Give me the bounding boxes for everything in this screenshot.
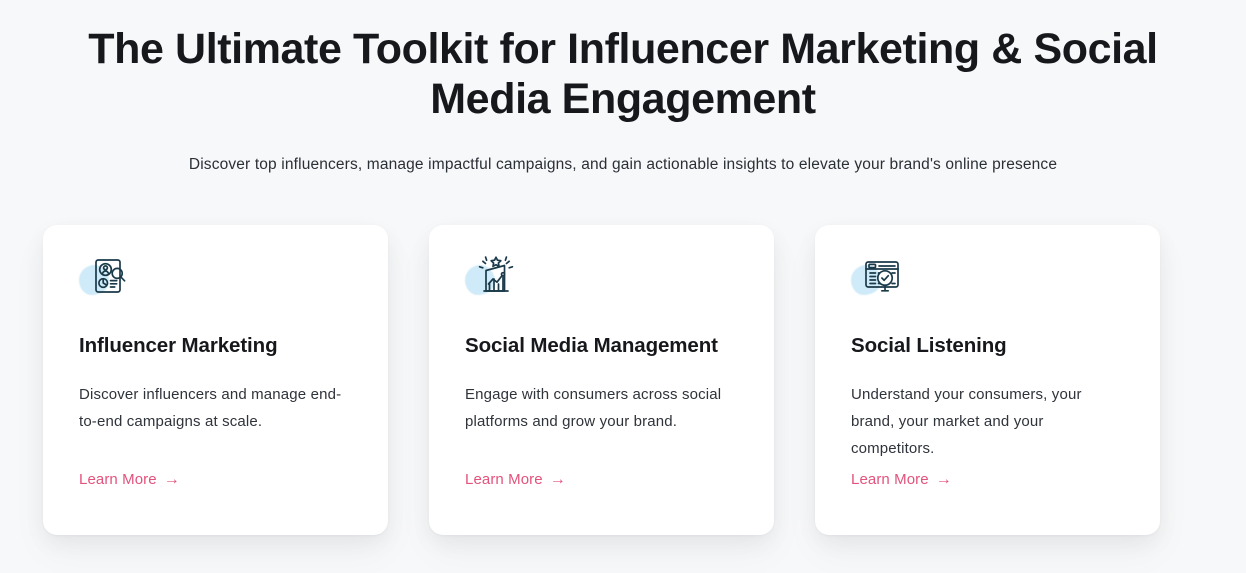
- browser-search-check-icon: [851, 253, 907, 305]
- page-title: The Ultimate Toolkit for Influencer Mark…: [0, 24, 1246, 124]
- card-title: Influencer Marketing: [79, 333, 354, 359]
- card-description: Engage with consumers across social plat…: [465, 381, 740, 435]
- arrow-right-icon: →: [936, 472, 952, 488]
- card-description: Understand your consumers, your brand, y…: [851, 381, 1126, 462]
- feature-card-list: Influencer Marketing Discover influencer…: [43, 225, 1203, 535]
- landing-page-section: The Ultimate Toolkit for Influencer Mark…: [0, 0, 1246, 573]
- profile-document-search-glyph: [87, 253, 133, 299]
- card-description: Discover influencers and manage end-to-e…: [79, 381, 354, 435]
- learn-more-label: Learn More: [79, 471, 157, 489]
- page-subtitle: Discover top influencers, manage impactf…: [0, 155, 1246, 175]
- feature-card-social-listening[interactable]: Social Listening Understand your consume…: [815, 225, 1160, 535]
- browser-search-check-glyph: [859, 253, 905, 299]
- bar-chart-star-glyph: [473, 253, 519, 299]
- card-title: Social Listening: [851, 333, 1126, 359]
- bar-chart-star-icon: [465, 253, 521, 305]
- arrow-right-icon: →: [550, 472, 566, 488]
- card-title: Social Media Management: [465, 333, 740, 359]
- profile-document-search-icon: [79, 253, 135, 305]
- feature-card-influencer-marketing[interactable]: Influencer Marketing Discover influencer…: [43, 225, 388, 535]
- learn-more-link[interactable]: Learn More →: [79, 471, 180, 489]
- learn-more-label: Learn More: [465, 471, 543, 489]
- feature-card-social-media-management[interactable]: Social Media Management Engage with cons…: [429, 225, 774, 535]
- learn-more-link[interactable]: Learn More →: [851, 471, 952, 489]
- learn-more-link[interactable]: Learn More →: [465, 471, 566, 489]
- arrow-right-icon: →: [164, 472, 180, 488]
- learn-more-label: Learn More: [851, 471, 929, 489]
